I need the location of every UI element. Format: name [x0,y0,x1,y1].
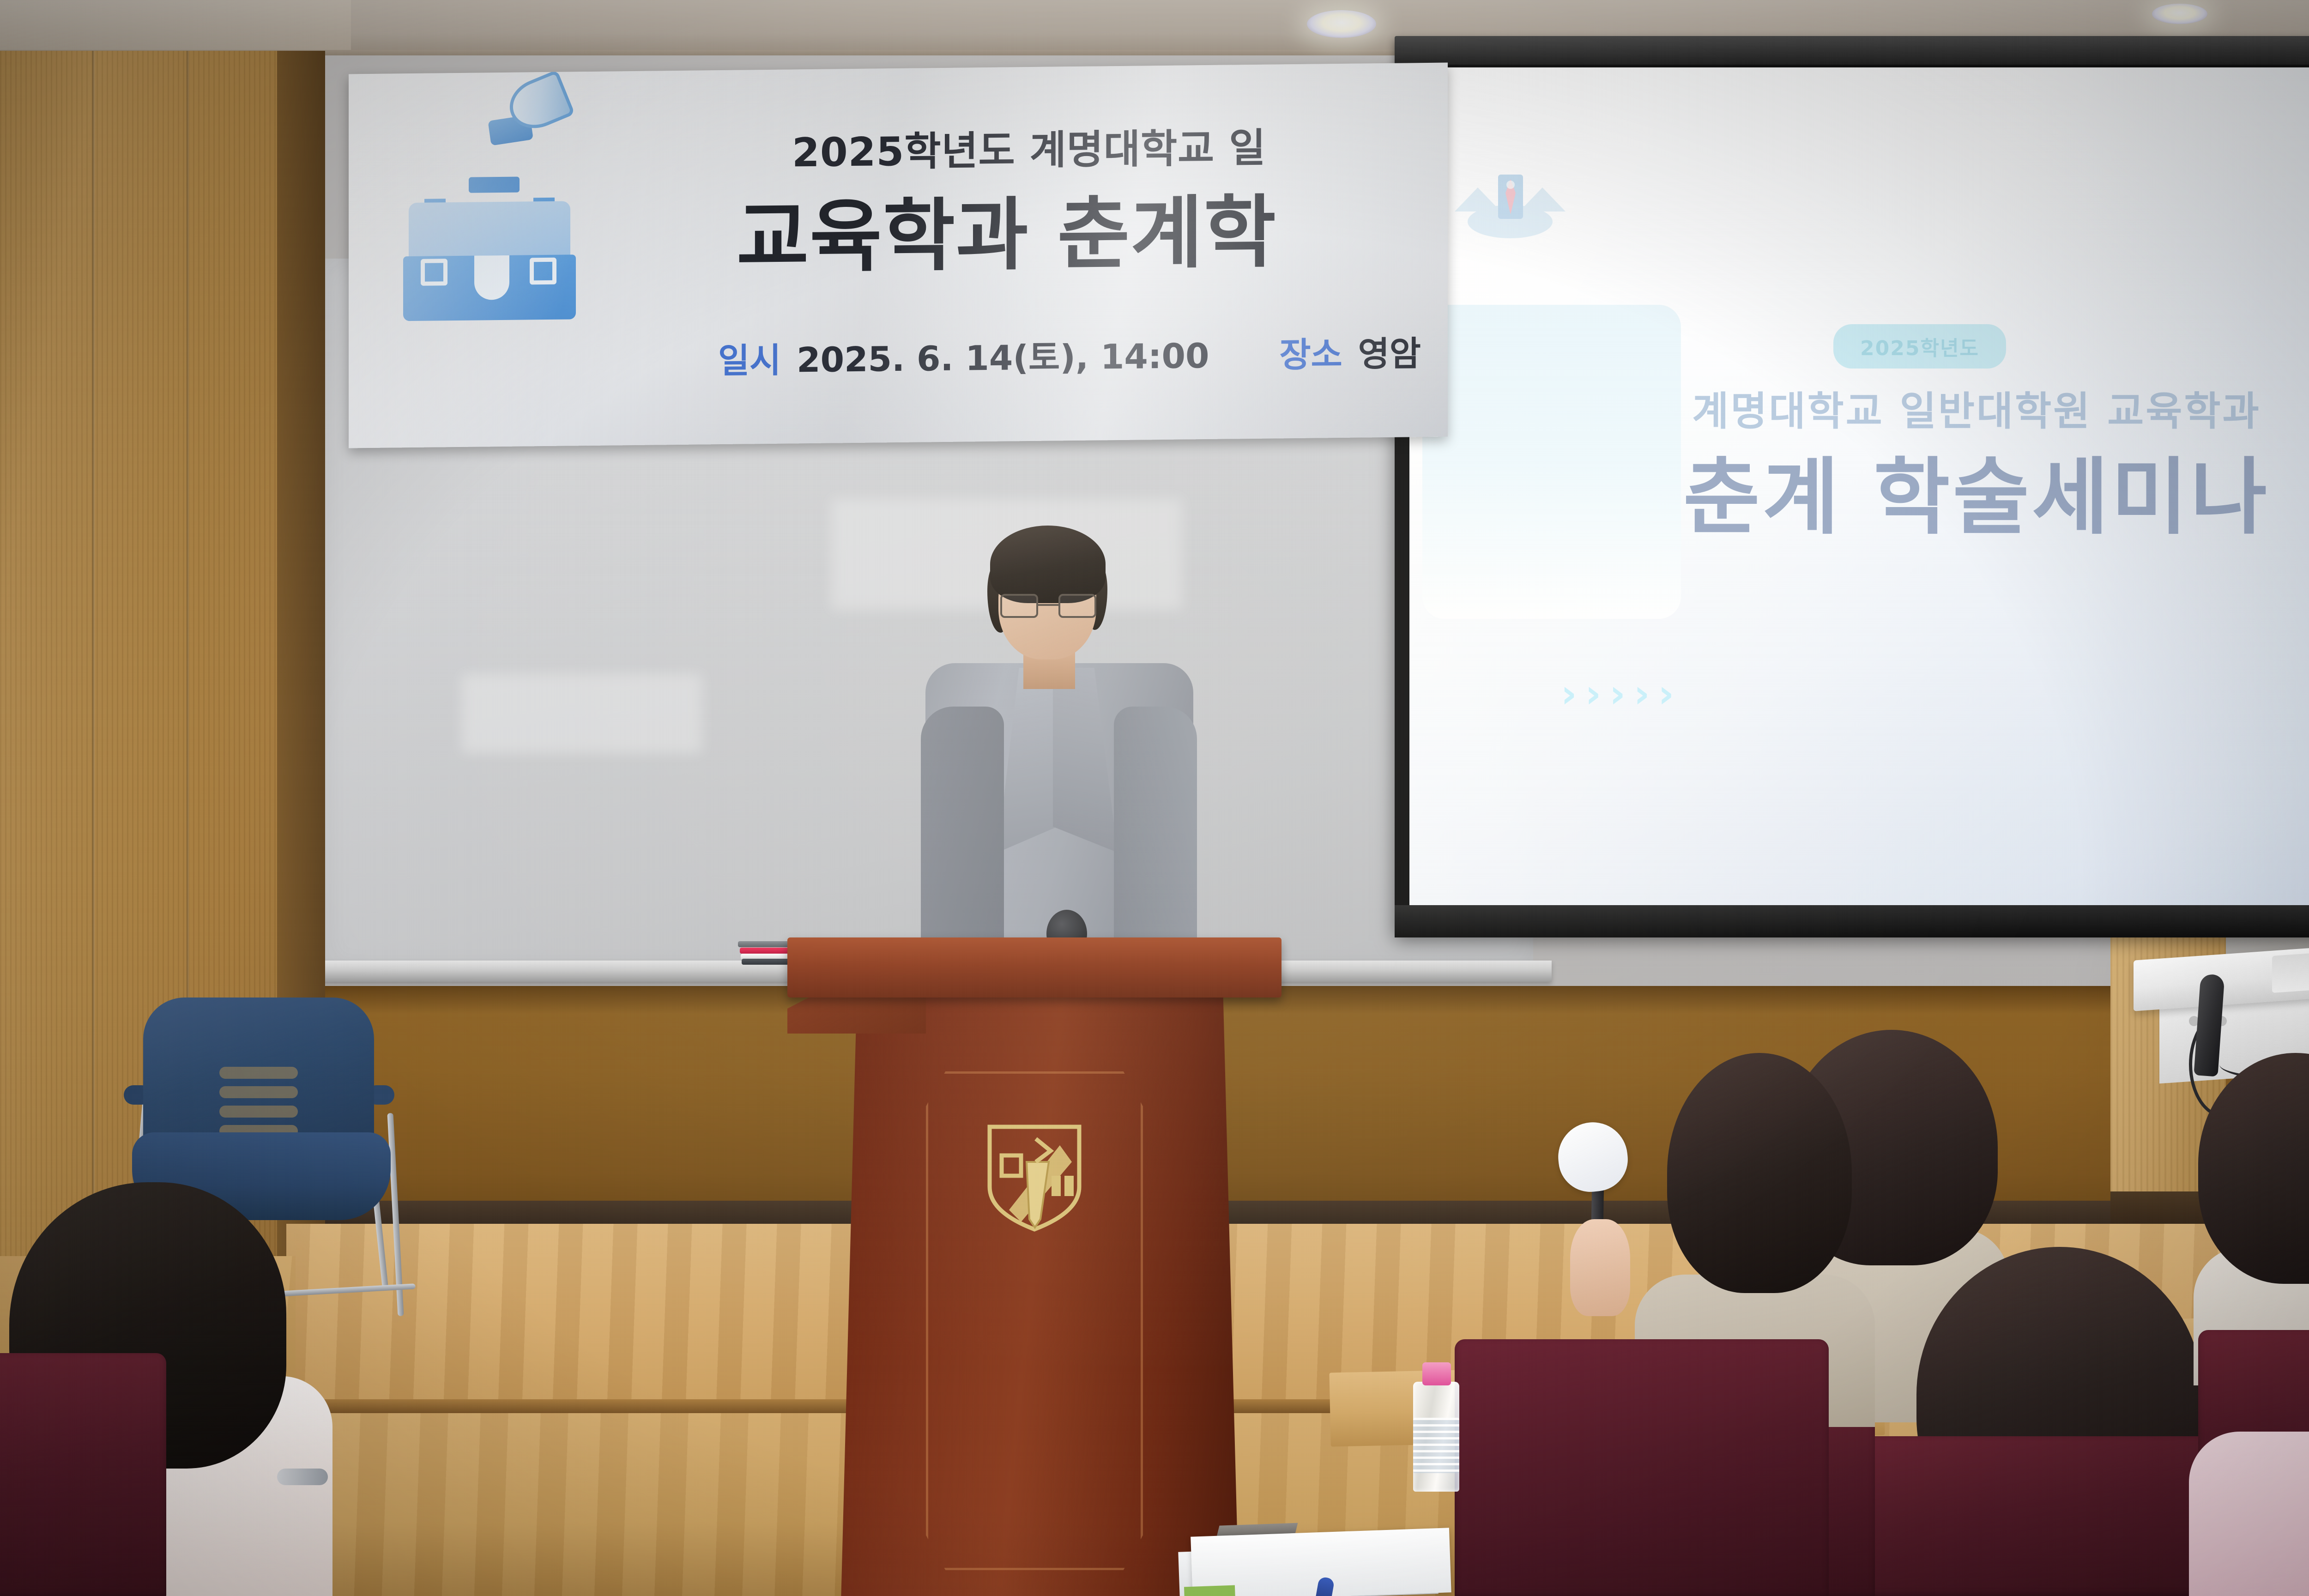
event-banner: 2025학년도 계명대학교 일 교육학과 춘계학 일시 2025. 6. 14(… [349,63,1448,448]
audience-member-far-right [2189,1395,2309,1596]
chevron-right-icon: › [1658,674,1674,713]
chair-backrest [143,997,374,1150]
chevron-right-icon: › [1634,674,1650,713]
university-emblem-icon [1450,166,1570,245]
chevron-right-icon: › [1609,674,1626,713]
seat-back [1455,1339,1829,1596]
seat-back [1838,1436,2244,1596]
slide-title: 춘계 학술세미나 [1561,429,2309,550]
ceiling-downlight-icon [2152,4,2207,24]
lectern [787,937,1281,1596]
ceiling-downlight-icon [1307,10,1376,38]
slide-year-badge: 2025학년도 [1833,324,2006,369]
audience-hand [1570,1219,1630,1316]
booklet-and-pen [1190,1515,1451,1596]
audience-hair [1667,1053,1852,1293]
bottle-cap [1422,1362,1451,1385]
audience-shoulders [2189,1432,2309,1596]
lectern-top [787,937,1281,997]
audience-member-right-back [2189,1053,2309,1376]
wall-shadow [286,986,2309,1014]
presenter-hair [990,526,1106,603]
chevron-right-icon: › [1561,674,1577,713]
chevron-right-icon: › [1585,674,1602,713]
audience-hair [2198,1053,2309,1284]
wood-panel-seam [92,51,95,1325]
slide-subtitle: 계명대학교 일반대학원 교육학과 [1616,379,2309,436]
console-recess [2272,949,2309,993]
university-shield-icon [981,1118,1088,1233]
water-bottle [1413,1362,1459,1492]
slide-chevron-decoration: › › › › › [1561,674,1674,713]
eyeglasses-icon [1000,594,1096,620]
seat-back [0,1353,166,1596]
bracelet-icon [277,1469,328,1485]
lecture-hall-photo: 2025학년도 계명대학교 일반대학원 교육학과 춘계 학술세미나 › › › … [0,0,2309,1596]
banner-fabric-sheen [349,63,1448,448]
